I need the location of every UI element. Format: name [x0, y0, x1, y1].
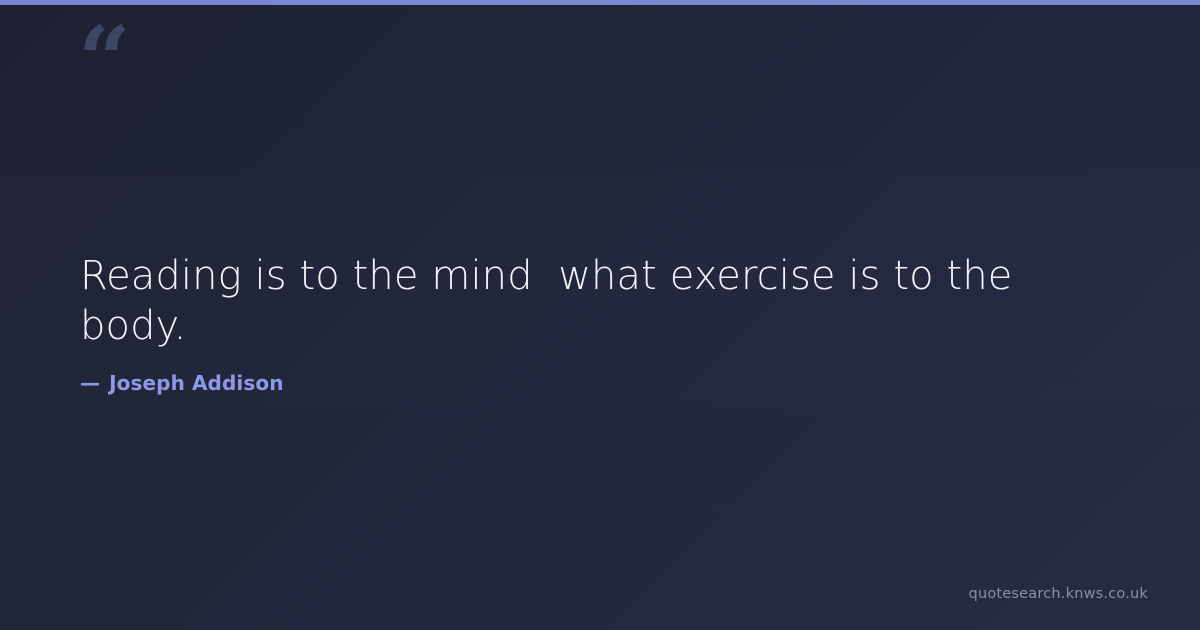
quote-card: “ Reading is to the mind what exercise i…: [0, 0, 1200, 630]
attribution-author-name: Joseph Addison: [109, 371, 283, 395]
attribution-dash: —: [80, 371, 100, 395]
quote-text: Reading is to the mind what exercise is …: [80, 252, 1130, 351]
quote-content: Reading is to the mind what exercise is …: [80, 252, 1130, 395]
site-watermark: quotesearch.knws.co.uk: [969, 586, 1148, 602]
quotation-mark-icon: “: [78, 14, 129, 106]
quote-attribution: — Joseph Addison: [80, 371, 1130, 395]
top-accent-bar: [0, 0, 1200, 5]
